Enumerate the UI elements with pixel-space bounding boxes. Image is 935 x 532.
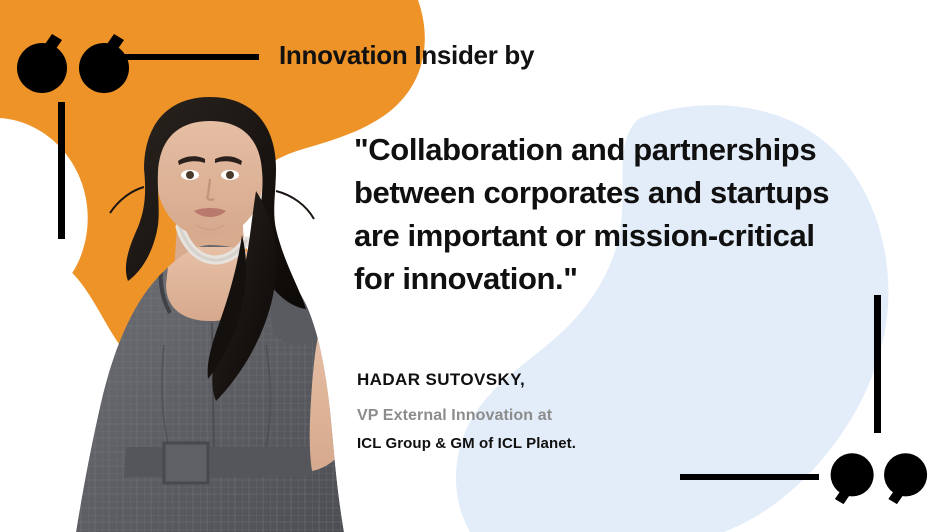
footer-rule-icon [680,474,819,480]
belt-shape [124,447,312,477]
open-quote-icon [16,26,132,98]
attribution-role: VP External Innovation at [357,407,552,425]
page-title: Innovation Insider by [279,40,534,71]
attribution-organization: ICL Group & GM of ICL Planet. [357,434,587,454]
close-quote-icon [828,447,928,513]
quote-text: "Collaboration and partnerships between … [354,128,854,300]
hair-wisp-right [276,191,314,219]
pupil-left [186,171,194,179]
vertical-bar-icon-right [874,295,881,433]
header-rule-icon [122,54,259,60]
belt-buckle [164,443,208,483]
hair-wisp-left [110,187,144,213]
vertical-bar-icon-left [58,102,65,239]
quote-card: Innovation Insider by "Collaboration and… [0,0,935,532]
pupil-right [226,171,234,179]
person-portrait-icon [60,95,360,532]
attribution-name: HADAR SUTOVSKY, [357,370,525,390]
